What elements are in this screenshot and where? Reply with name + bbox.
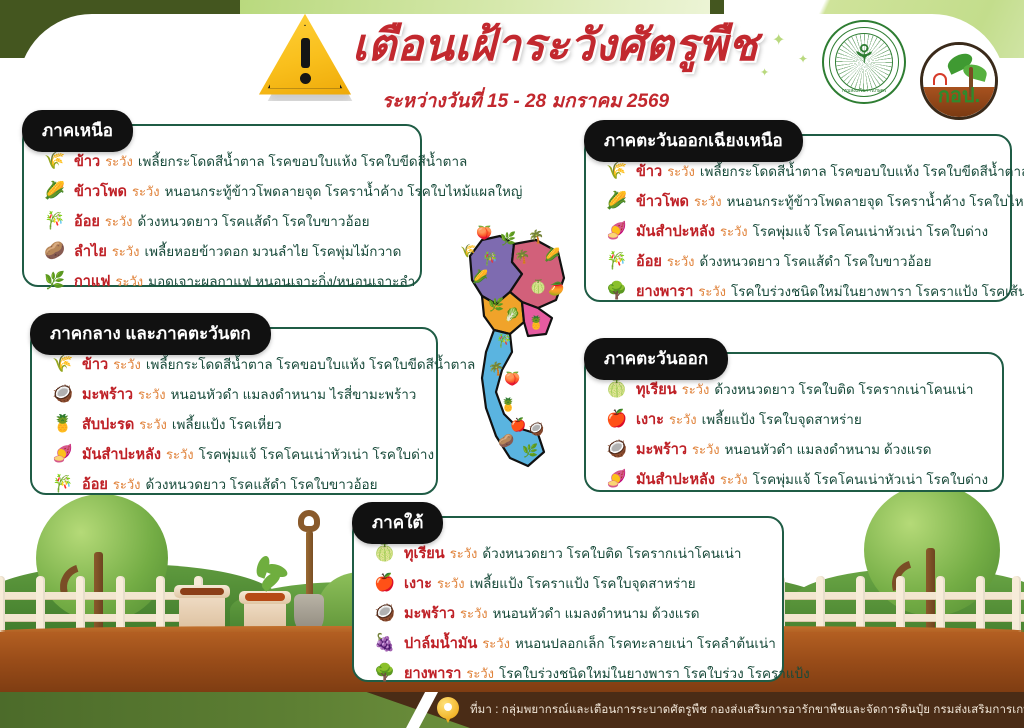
- crop-name: มะพร้าว: [82, 383, 133, 406]
- watch-label: ระวัง: [132, 181, 160, 202]
- location-pin-icon: [437, 697, 459, 723]
- pest-description: โรคพุ่มแจ้ โรคโคนเน่าหัวเน่า โรคใบด่าง: [199, 443, 434, 465]
- crop-name: ทุเรียน: [636, 378, 677, 401]
- map-crop-icon: 🌿: [522, 444, 538, 457]
- region-title-north: ภาคเหนือ: [22, 110, 133, 152]
- cassava-icon: 🍠: [602, 466, 632, 492]
- watch-label: ระวัง: [460, 603, 488, 624]
- watch-label: ระวัง: [138, 384, 166, 405]
- crop-name: ข้าว: [74, 150, 100, 173]
- crop-name: ลำไย: [74, 240, 107, 263]
- crop-name: สับปะรด: [82, 413, 134, 436]
- map-crop-icon: 🍑: [504, 372, 520, 385]
- list-item: 🎋อ้อยระวังด้วงหนวดยาว โรคแส้ดำ โรคใบขาวอ…: [48, 471, 426, 497]
- maize-icon: 🌽: [602, 188, 632, 214]
- coconut-icon: 🥥: [48, 381, 78, 407]
- oilpalm-icon: 🍇: [370, 630, 400, 656]
- watch-label: ระวัง: [482, 633, 510, 654]
- crop-name: มันสำปะหลัง: [636, 220, 715, 243]
- watch-label: ระวัง: [667, 251, 695, 272]
- watch-label: ระวัง: [166, 444, 194, 465]
- list-item: 🌳ยางพาราระวังโรคใบร่วงชนิดใหม่ในยางพารา …: [370, 660, 772, 686]
- watch-label: ระวัง: [139, 414, 167, 435]
- pest-description: หนอนหัวดำ แมลงดำหนาม ด้วงแรด: [493, 602, 700, 624]
- list-item: 🍎เงาะระวังเพลี้ยแป้ง โรคใบจุดสาหร่าย: [602, 406, 992, 432]
- crop-name: มะพร้าว: [636, 438, 687, 461]
- pest-description: เพลี้ยแป้ง โรคราแป้ง โรคใบจุดสาหร่าย: [470, 572, 696, 594]
- footer-green-wedge: [0, 692, 470, 728]
- list-item: 🍠มันสำปะหลังระวังโรคพุ่มแจ้ โรคโคนเน่าหั…: [602, 466, 992, 492]
- pest-description: หนอนหัวดำ แมลงดำหนาม ด้วงแรด: [725, 438, 932, 460]
- region-list-north: 🌾ข้าวระวังเพลี้ยกระโดดสีน้ำตาล โรคขอบใบแ…: [40, 148, 410, 298]
- crop-name: ทุเรียน: [404, 542, 445, 565]
- map-crop-icon: 🌿: [488, 298, 504, 311]
- pest-description: เพลี้ยแป้ง โรคใบจุดสาหร่าย: [702, 408, 862, 430]
- sugarcane-icon: 🎋: [602, 248, 632, 274]
- rambutan-icon: 🍎: [602, 406, 632, 432]
- list-item: 🍍สับปะรดระวังเพลี้ยแป้ง โรคเหี่ยว: [48, 411, 426, 437]
- watch-label: ระวัง: [113, 474, 141, 495]
- map-crop-icon: 🍎: [510, 418, 526, 431]
- region-title-east: ภาคตะวันออก: [584, 338, 728, 380]
- pest-description: โรคใบร่วงชนิดใหม่ในยางพารา โรคราแป้ง โรค…: [731, 280, 1024, 302]
- region-title-central: ภาคกลาง และภาคตะวันตก: [30, 313, 271, 355]
- list-item: 🥥มะพร้าวระวังหนอนหัวดำ แมลงดำหนาม ด้วงแร…: [370, 600, 772, 626]
- sugarcane-icon: 🎋: [40, 208, 70, 234]
- list-item: 🌽ข้าวโพดระวังหนอนกระทู้ข้าวโพดลายจุด โรค…: [40, 178, 410, 204]
- cassava-icon: 🍠: [602, 218, 632, 244]
- list-item: 🍎เงาะระวังเพลี้ยแป้ง โรคราแป้ง โรคใบจุดส…: [370, 570, 772, 596]
- watch-label: ระวัง: [720, 221, 748, 242]
- infographic-root: เตือนเฝ้าระวังศัตรูพืช ระหว่างวันที่ 15 …: [0, 0, 1024, 728]
- coffee-icon: 🌿: [40, 268, 70, 294]
- watch-label: ระวัง: [667, 161, 695, 182]
- crop-name: ปาล์มน้ำมัน: [404, 632, 477, 655]
- crop-name: ข้าวโพด: [636, 190, 689, 213]
- watch-label: ระวัง: [113, 354, 141, 375]
- region-title-northeast: ภาคตะวันออกเฉียงเหนือ: [584, 120, 803, 162]
- list-item: 🌽ข้าวโพดระวังหนอนกระทู้ข้าวโพดลายจุด โรค…: [602, 188, 1000, 214]
- map-crop-icon: 🌴: [488, 362, 504, 375]
- date-range: ระหว่างวันที่ 15 - 28 มกราคม 2569: [382, 86, 802, 116]
- watch-label: ระวัง: [450, 543, 478, 564]
- sparkle-icon: ✦: [760, 66, 769, 79]
- crop-name: เงาะ: [636, 408, 664, 431]
- list-item: 🍈ทุเรียนระวังด้วงหนวดยาว โรคใบติด โรคราก…: [370, 540, 772, 566]
- list-item: 🥥มะพร้าวระวังหนอนหัวดำ แมลงดำหนาม ไรสี่ข…: [48, 381, 426, 407]
- list-item: 🌳ยางพาราระวังโรคใบร่วงชนิดใหม่ในยางพารา …: [602, 278, 1000, 304]
- pest-description: ด้วงหนวดยาว โรคแส้ดำ โรคใบขาวอ้อย: [700, 250, 932, 272]
- maize-icon: 🌽: [40, 178, 70, 204]
- map-crop-icon: 🎋: [496, 334, 512, 347]
- pest-description: หนอนปลอกเล็ก โรคทะลายเน่า โรคลำต้นเน่า: [515, 632, 776, 654]
- crop-name: อ้อย: [82, 473, 108, 496]
- crop-name: มะพร้าว: [404, 602, 455, 625]
- kop-logo: กอป.: [920, 42, 998, 120]
- coconut-icon: 🥥: [602, 436, 632, 462]
- map-crop-icon: 🍍: [500, 398, 516, 411]
- pest-description: เพลี้ยกระโดดสีน้ำตาล โรคขอบใบแห้ง โรคใบข…: [138, 150, 467, 172]
- crop-name: อ้อย: [74, 210, 100, 233]
- watch-label: ระวัง: [669, 409, 697, 430]
- map-crop-icon: 🎋: [482, 252, 498, 265]
- sugarcane-icon: 🎋: [48, 471, 78, 497]
- crop-name: มันสำปะหลัง: [636, 468, 715, 491]
- list-item: 🥥มะพร้าวระวังหนอนหัวดำ แมลงดำหนาม ด้วงแร…: [602, 436, 992, 462]
- crop-name: อ้อย: [636, 250, 662, 273]
- pest-description: เพลี้ยหอยข้าวดอก มวนลำไย โรคพุ่มไม้กวาด: [144, 240, 401, 262]
- pest-description: โรคใบร่วงชนิดใหม่ในยางพารา โรคใบร่วง โรค…: [499, 662, 810, 684]
- warning-triangle-icon: [258, 12, 354, 102]
- pest-description: หนอนหัวดำ แมลงดำหนาม ไรสี่ขามะพร้าว: [171, 383, 417, 405]
- watch-label: ระวัง: [698, 281, 726, 302]
- map-crop-icon: 🍈: [530, 280, 546, 293]
- list-item: 🍠มันสำปะหลังระวังโรคพุ่มแจ้ โรคโคนเน่าหั…: [602, 218, 1000, 244]
- page-title: เตือนเฝ้าระวังศัตรูพืช: [352, 16, 782, 78]
- list-item: 🍠มันสำปะหลังระวังโรคพุ่มแจ้ โรคโคนเน่าหั…: [48, 441, 426, 467]
- pest-description: ด้วงหนวดยาว โรคแส้ดำ โรคใบขาวอ้อย: [138, 210, 370, 232]
- crop-name: ข้าว: [82, 353, 108, 376]
- watch-label: ระวัง: [682, 379, 710, 400]
- region-list-east: 🍈ทุเรียนระวังด้วงหนวดยาว โรคใบติด โรคราก…: [602, 376, 992, 496]
- region-list-central: 🌾ข้าวระวังเพลี้ยกระโดดสีน้ำตาล โรคขอบใบแ…: [48, 351, 426, 501]
- pest-description: ด้วงหนวดยาว โรคใบติด โรครากเน่าโคนเน่า: [482, 542, 741, 564]
- map-crop-icon: 🥬: [504, 308, 520, 321]
- map-crop-icon: 🌾: [460, 244, 476, 257]
- cassava-icon: 🍠: [48, 441, 78, 467]
- pest-description: เพลี้ยกระโดดสีน้ำตาล โรคขอบใบแห้ง โรคใบข…: [700, 160, 1024, 182]
- sparkle-icon: ✦: [772, 30, 785, 50]
- footer-bar: ที่มา : กลุ่มพยากรณ์และเตือนการระบาดศัตร…: [0, 692, 1024, 728]
- doae-seal-caption: กรมส่งเสริมการเกษตร: [824, 87, 904, 95]
- map-crop-icon: 🌴: [514, 250, 530, 263]
- doae-seal-logo: ⚘ กรมส่งเสริมการเกษตร: [822, 20, 906, 104]
- doae-seal-glyph: ⚘: [852, 41, 875, 67]
- crop-name: กาแฟ: [74, 270, 111, 293]
- map-crop-icon: 🌴: [528, 230, 544, 243]
- rambutan-icon: 🍎: [370, 570, 400, 596]
- pest-description: มอดเจาะผลกาแฟ หนอนเจาะกิ่ง/หนอนเจาะลำ: [148, 270, 415, 292]
- pest-description: โรคพุ่มแจ้ โรคโคนเน่าหัวเน่า โรคใบด่าง: [753, 468, 988, 490]
- list-item: 🥔ลำไยระวังเพลี้ยหอยข้าวดอก มวนลำไย โรคพุ…: [40, 238, 410, 264]
- region-list-south: 🍈ทุเรียนระวังด้วงหนวดยาว โรคใบติด โรคราก…: [370, 540, 772, 690]
- crop-name: ยางพารา: [636, 280, 693, 303]
- region-title-south: ภาคใต้: [352, 502, 443, 544]
- shovel-icon: [286, 510, 336, 638]
- sparkle-icon: ✦: [798, 52, 808, 66]
- map-crop-icon: 🌽: [544, 248, 560, 261]
- map-crop-icon: 🌿: [500, 232, 516, 245]
- watch-label: ระวัง: [116, 271, 144, 292]
- footer-source-text: ที่มา : กลุ่มพยากรณ์และเตือนการระบาดศัตร…: [470, 692, 1024, 728]
- pest-description: ด้วงหนวดยาว โรคแส้ดำ โรคใบขาวอ้อย: [146, 473, 378, 495]
- list-item: 🌿กาแฟระวังมอดเจาะผลกาแฟ หนอนเจาะกิ่ง/หนอ…: [40, 268, 410, 294]
- crop-name: ยางพารา: [404, 662, 461, 685]
- watch-label: ระวัง: [694, 191, 722, 212]
- watch-label: ระวัง: [720, 469, 748, 490]
- list-item: 🎋อ้อยระวังด้วงหนวดยาว โรคแส้ดำ โรคใบขาวอ…: [40, 208, 410, 234]
- map-crop-icon: 🍑: [476, 226, 492, 239]
- crop-name: เงาะ: [404, 572, 432, 595]
- region-list-northeast: 🌾ข้าวระวังเพลี้ยกระโดดสีน้ำตาล โรคขอบใบแ…: [602, 158, 1000, 308]
- kop-logo-text: กอป.: [923, 79, 995, 111]
- watch-label: ระวัง: [112, 241, 140, 262]
- list-item: 🎋อ้อยระวังด้วงหนวดยาว โรคแส้ดำ โรคใบขาวอ…: [602, 248, 1000, 274]
- watch-label: ระวัง: [105, 211, 133, 232]
- pest-description: เพลี้ยแป้ง โรคเหี่ยว: [172, 413, 282, 435]
- rubber-icon: 🌳: [370, 660, 400, 686]
- list-item: 🍇ปาล์มน้ำมันระวังหนอนปลอกเล็ก โรคทะลายเน…: [370, 630, 772, 656]
- watch-label: ระวัง: [437, 573, 465, 594]
- coconut-icon: 🥥: [370, 600, 400, 626]
- rubber-icon: 🌳: [602, 278, 632, 304]
- pest-description: หนอนกระทู้ข้าวโพดลายจุด โรคราน้ำค้าง โรค…: [727, 190, 1024, 212]
- pest-description: หนอนกระทู้ข้าวโพดลายจุด โรคราน้ำค้าง โรค…: [165, 180, 523, 202]
- watch-label: ระวัง: [692, 439, 720, 460]
- pest-description: โรคพุ่มแจ้ โรคโคนเน่าหัวเน่า โรคใบด่าง: [753, 220, 988, 242]
- longan-icon: 🥔: [40, 238, 70, 264]
- pest-description: ด้วงหนวดยาว โรคใบติด โรครากเน่าโคนเน่า: [714, 378, 973, 400]
- pineapple-icon: 🍍: [48, 411, 78, 437]
- map-crop-icon: 🍍: [528, 316, 544, 329]
- crop-name: มันสำปะหลัง: [82, 443, 161, 466]
- watch-label: ระวัง: [105, 151, 133, 172]
- map-crop-icon: 🥥: [528, 422, 544, 435]
- crop-name: ข้าว: [636, 160, 662, 183]
- map-crop-icon: 🥭: [548, 282, 564, 295]
- map-crop-icon: 🌽: [472, 270, 488, 283]
- pest-description: เพลี้ยกระโดดสีน้ำตาล โรคขอบใบแห้ง โรคใบข…: [146, 353, 475, 375]
- watch-label: ระวัง: [466, 663, 494, 684]
- map-crop-icon: 🥔: [498, 434, 514, 447]
- crop-name: ข้าวโพด: [74, 180, 127, 203]
